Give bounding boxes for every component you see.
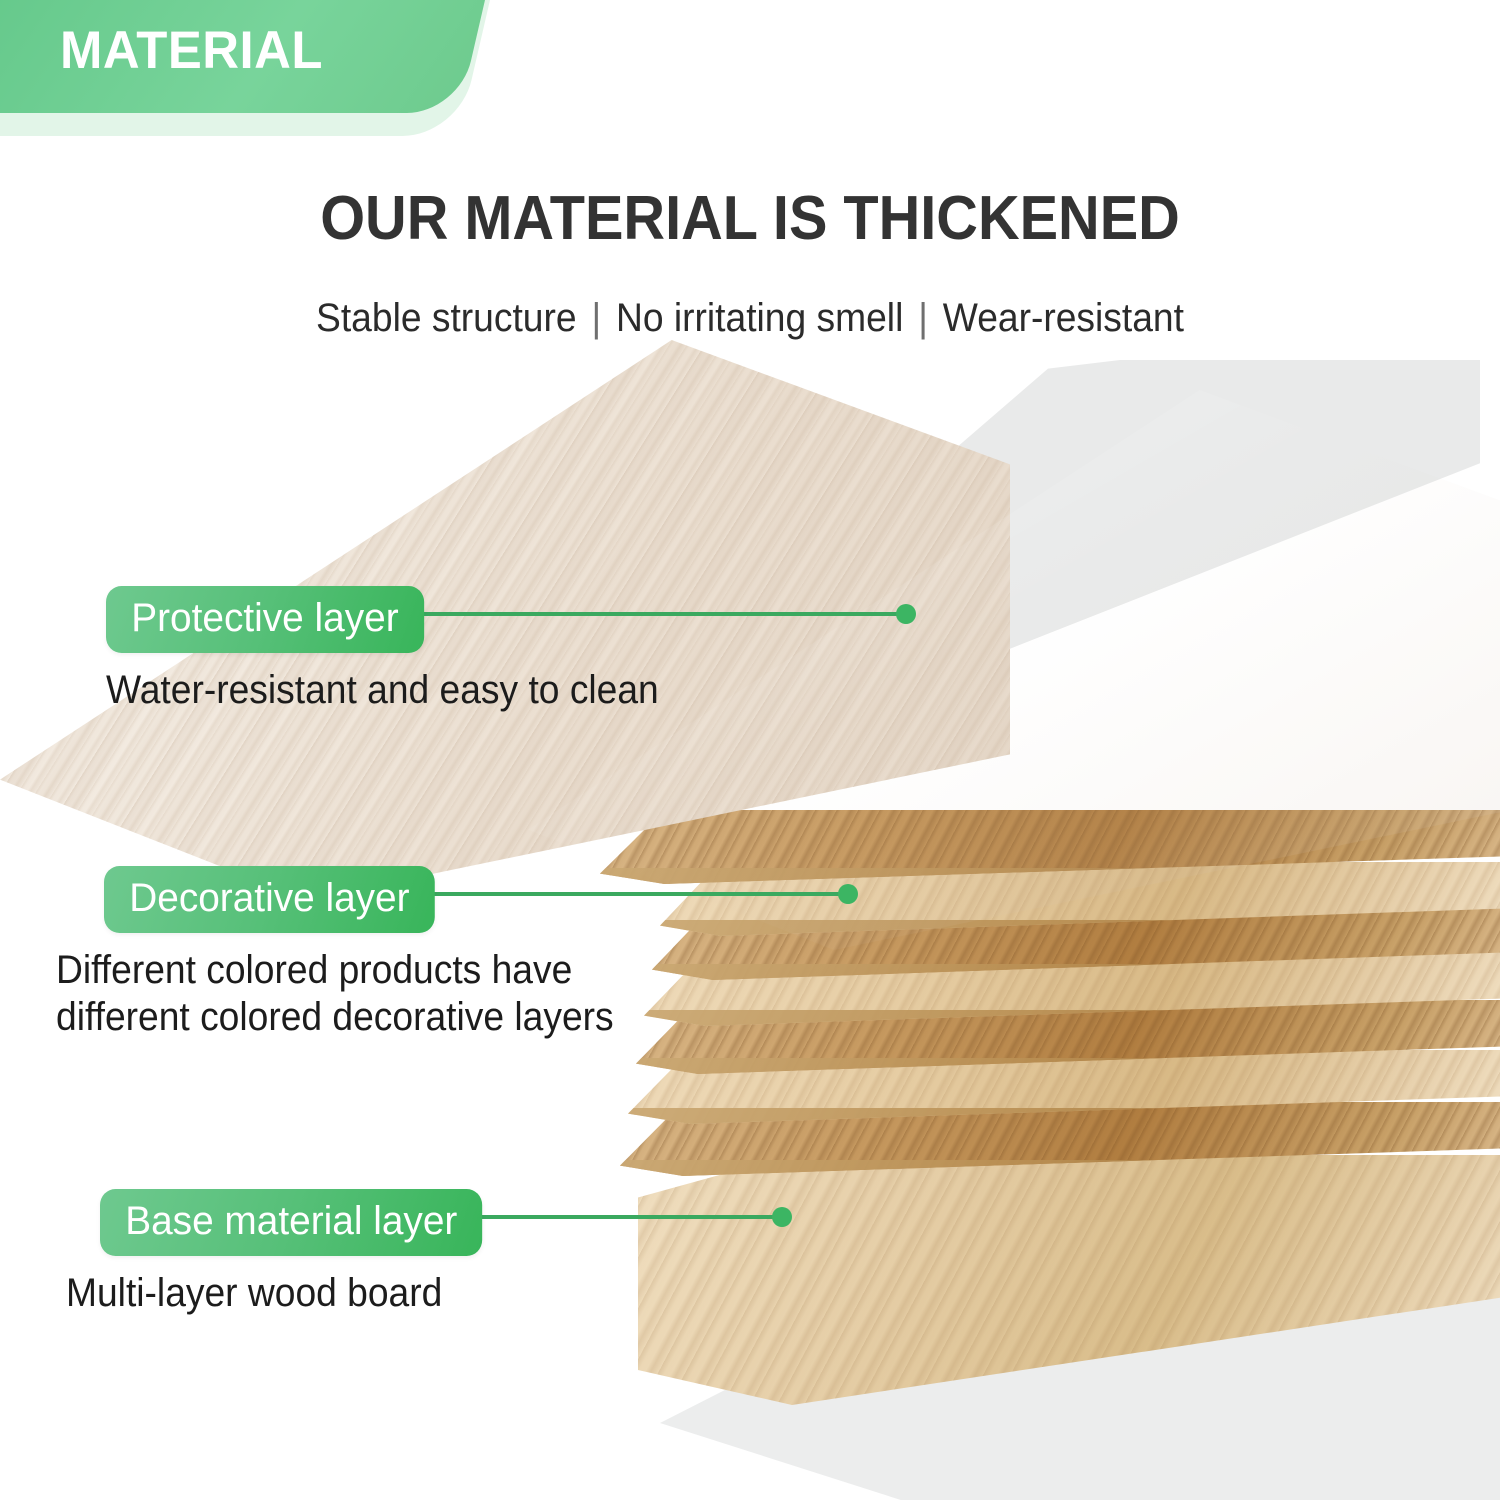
connector-dot-protective xyxy=(896,604,916,624)
subtitle-item-3: Wear-resistant xyxy=(943,296,1184,340)
callout-description-base: Multi-layer wood board xyxy=(66,1270,464,1317)
subtitle-row: Stable structure|No irritating smell|Wea… xyxy=(53,296,1448,341)
callout-base-material-layer: Base material layer Multi-layer wood boa… xyxy=(100,1189,494,1317)
banner-label: MATERIAL xyxy=(60,20,323,81)
callout-desc-line-1: Different colored products have xyxy=(56,948,572,992)
callout-label-base[interactable]: Base material layer xyxy=(100,1189,483,1256)
subtitle-separator-1: | xyxy=(577,296,616,340)
callout-label-decorative[interactable]: Decorative layer xyxy=(104,866,435,933)
callout-desc-line-1: Water-resistant and easy to clean xyxy=(106,668,659,712)
subtitle-item-1: Stable structure xyxy=(316,296,577,340)
connector-dot-decorative xyxy=(838,884,858,904)
callout-label-protective[interactable]: Protective layer xyxy=(106,586,424,653)
callout-desc-line-2: different colored decorative layers xyxy=(56,994,614,1041)
page-title: OUR MATERIAL IS THICKENED xyxy=(53,183,1448,254)
callout-description-decorative: Different colored products have differen… xyxy=(56,947,614,1041)
connector-dot-base xyxy=(772,1207,792,1227)
infographic-canvas: MATERIAL OUR MATERIAL IS THICKENED Stabl… xyxy=(0,0,1500,1500)
callout-desc-line-1: Multi-layer wood board xyxy=(66,1271,442,1315)
subtitle-item-2: No irritating smell xyxy=(616,296,903,340)
callout-decorative-layer: Decorative layer Different colored produ… xyxy=(104,866,656,1041)
callout-protective-layer: Protective layer Water-resistant and eas… xyxy=(106,586,700,714)
subtitle-separator-2: | xyxy=(903,296,942,340)
callout-description-protective: Water-resistant and easy to clean xyxy=(106,667,659,714)
